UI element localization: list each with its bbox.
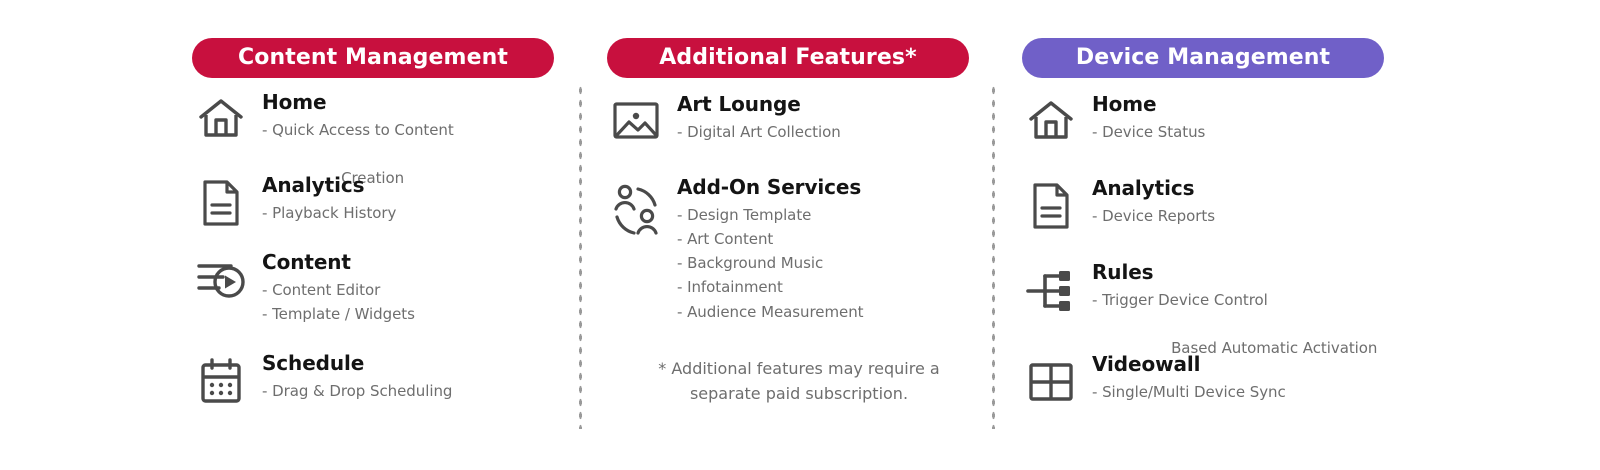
feature-item-sub: - Template / Widgets xyxy=(262,302,554,326)
feature-item-title: Rules xyxy=(1092,262,1384,284)
feature-list-device-management: Home - Device Status Ana xyxy=(1022,94,1384,406)
feature-item-sub: - Device Reports xyxy=(1092,204,1384,228)
feature-item-title: Schedule xyxy=(262,353,554,375)
feature-item-sublist: - Drag & Drop Scheduling xyxy=(262,379,554,403)
feature-item-sub: - Audience Measurement xyxy=(677,300,969,324)
feature-item-sublist: - Device Status xyxy=(1092,120,1384,144)
feature-item-body: Add-On Services - Design Template - Art … xyxy=(665,177,969,324)
column-header-pill-device-management: Device Management xyxy=(1022,38,1384,78)
feature-item-title: Add-On Services xyxy=(677,177,969,199)
feature-item-home[interactable]: Home - Device Status xyxy=(1022,94,1384,178)
feature-item-sublist: - Device Reports xyxy=(1092,204,1384,228)
column-header-label: Content Management xyxy=(238,47,508,69)
home-icon xyxy=(1022,94,1080,146)
feature-item-schedule[interactable]: Schedule - Drag & Drop Scheduling xyxy=(192,353,554,405)
feature-item-sub: - Digital Art Collection xyxy=(677,120,969,144)
feature-item-sub: - Quick Access to Content xyxy=(262,118,554,142)
column-header-pill-content-management: Content Management xyxy=(192,38,554,78)
people-icon xyxy=(607,177,665,229)
feature-item-sublist: - Single/Multi Device Sync xyxy=(1092,380,1384,404)
feature-item-sub: - Art Content xyxy=(677,227,969,251)
feature-list-additional-features: Art Lounge - Digital Art Collection xyxy=(607,94,969,324)
videowall-grid-icon xyxy=(1022,354,1080,406)
column-divider-right xyxy=(991,84,996,429)
column-divider-left xyxy=(578,84,583,429)
calendar-icon xyxy=(192,353,250,405)
feature-item-sub: - Single/Multi Device Sync xyxy=(1092,380,1384,404)
feature-item-art-lounge[interactable]: Art Lounge - Digital Art Collection xyxy=(607,94,969,177)
rules-branch-icon xyxy=(1022,262,1080,314)
feature-item-title: Analytics xyxy=(1092,178,1384,200)
feature-item-sub: - Infotainment xyxy=(677,275,969,299)
feature-item-sublist: - Content Editor - Template / Widgets xyxy=(262,278,554,327)
media-play-icon xyxy=(192,252,250,304)
feature-item-content[interactable]: Content - Content Editor - Template / Wi… xyxy=(192,252,554,353)
feature-item-body: Analytics - Device Reports xyxy=(1080,178,1384,228)
feature-item-body: Content - Content Editor - Template / Wi… xyxy=(250,252,554,326)
feature-overview-board: Content Management Home - Quick Access t… xyxy=(0,0,1600,470)
feature-item-title: Home xyxy=(1092,94,1384,116)
feature-item-sub: - Design Template xyxy=(677,203,969,227)
feature-item-body: Analytics - Playback History xyxy=(250,175,554,225)
feature-item-body: Schedule - Drag & Drop Scheduling xyxy=(250,353,554,403)
additional-features-footnote: * Additional features may require a sepa… xyxy=(629,357,969,407)
feature-item-analytics[interactable]: Analytics - Playback History xyxy=(192,175,554,252)
feature-item-analytics[interactable]: Analytics - Device Reports xyxy=(1022,178,1384,262)
feature-item-sub: - Device Status xyxy=(1092,120,1384,144)
feature-list-content-management: Home - Quick Access to Content Creation xyxy=(192,92,554,405)
feature-item-body: Home - Device Status xyxy=(1080,94,1384,144)
feature-item-title: Analytics xyxy=(262,175,554,197)
feature-item-sublist: - Design Template - Art Content - Backgr… xyxy=(677,203,969,324)
feature-item-title: Videowall xyxy=(1092,354,1384,376)
feature-item-sub: - Playback History xyxy=(262,201,554,225)
feature-item-sub: - Trigger Device Control xyxy=(1092,288,1384,312)
feature-item-title: Home xyxy=(262,92,554,114)
column-header-label: Additional Features* xyxy=(659,47,916,69)
feature-item-sublist: - Playback History xyxy=(262,201,554,225)
feature-item-sub: - Drag & Drop Scheduling xyxy=(262,379,554,403)
home-icon xyxy=(192,92,250,144)
feature-item-body: Videowall - Single/Multi Device Sync xyxy=(1080,354,1384,404)
feature-item-rules[interactable]: Rules - Trigger Device Control Based Aut… xyxy=(1022,262,1384,354)
feature-item-title: Content xyxy=(262,252,554,274)
feature-item-sub: - Content Editor xyxy=(262,278,554,302)
feature-item-title: Art Lounge xyxy=(677,94,969,116)
feature-item-videowall[interactable]: Videowall - Single/Multi Device Sync xyxy=(1022,354,1384,406)
feature-item-sublist: - Digital Art Collection xyxy=(677,120,969,144)
image-icon xyxy=(607,94,665,146)
feature-item-sub: - Background Music xyxy=(677,251,969,275)
feature-item-home[interactable]: Home - Quick Access to Content Creation xyxy=(192,92,554,175)
feature-item-body: Art Lounge - Digital Art Collection xyxy=(665,94,969,144)
column-header-pill-additional-features: Additional Features* xyxy=(607,38,969,78)
document-icon xyxy=(192,175,250,227)
document-icon xyxy=(1022,178,1080,230)
column-header-label: Device Management xyxy=(1076,47,1330,69)
feature-item-add-on-services[interactable]: Add-On Services - Design Template - Art … xyxy=(607,177,969,324)
